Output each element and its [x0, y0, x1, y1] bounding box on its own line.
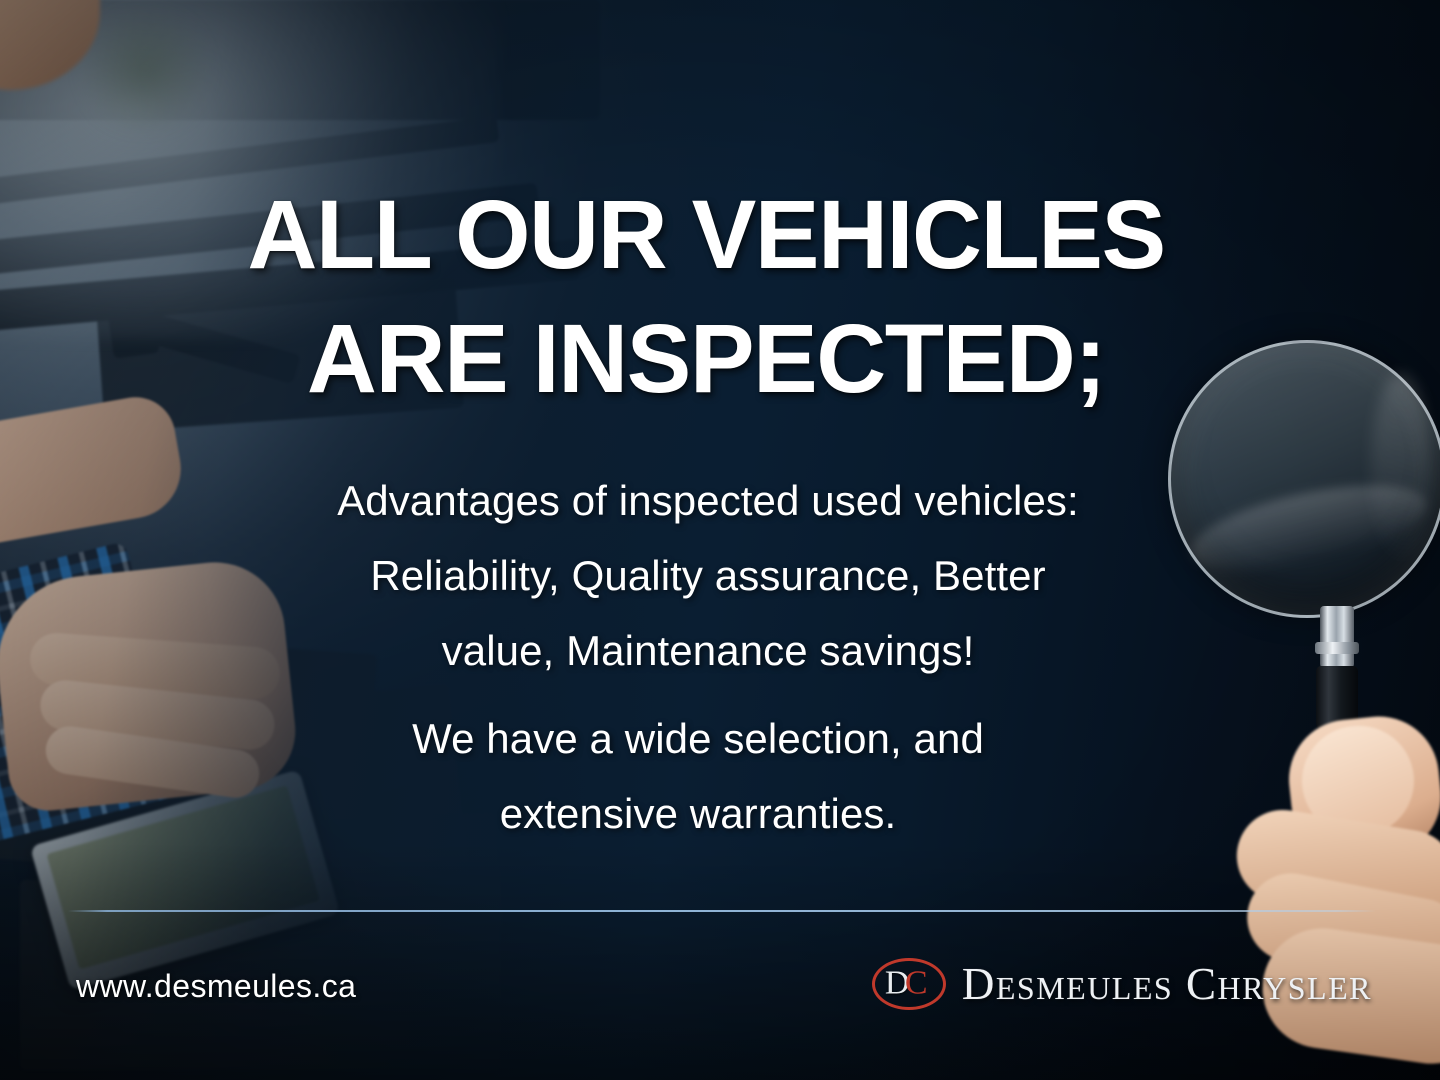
website-url[interactable]: www.desmeules.ca — [76, 968, 356, 1005]
footer-divider — [68, 910, 1376, 912]
monogram-letter-c: C — [905, 966, 928, 1000]
advantages-paragraph: Advantages of inspected used vehicles: R… — [0, 464, 1440, 688]
selection-warranty-paragraph: We have a wide selection, and extensive … — [0, 702, 1440, 852]
dc-monogram-icon: D C — [872, 958, 946, 1010]
promotional-banner: ALL OUR VEHICLES ARE INSPECTED; Advantag… — [0, 0, 1440, 1080]
brand-logo[interactable]: D C Desmeules Chrysler — [872, 958, 1372, 1010]
page-title: ALL OUR VEHICLES ARE INSPECTED; — [0, 173, 1440, 421]
brand-wordmark: Desmeules Chrysler — [962, 958, 1372, 1010]
